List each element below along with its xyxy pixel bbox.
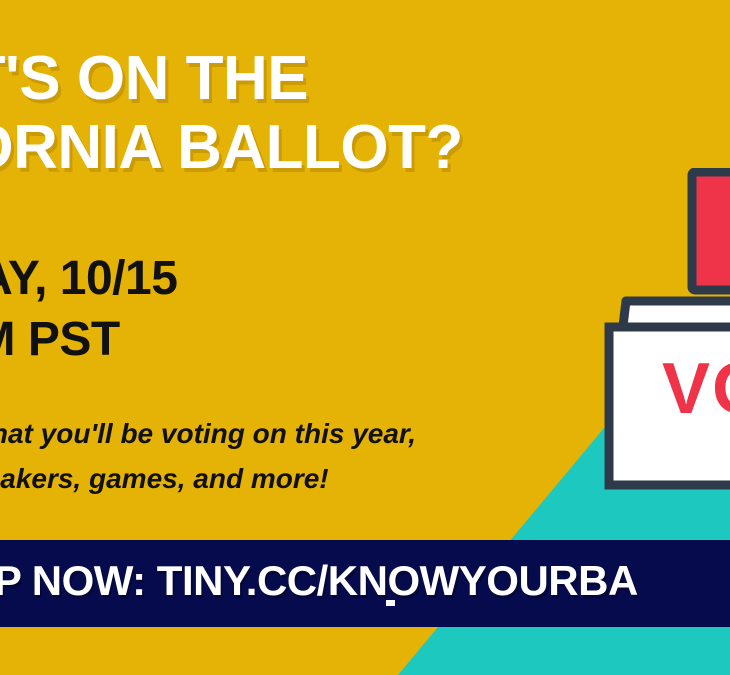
ballot-card-icon (692, 172, 730, 290)
event-description: t what you'll be voting on this year, sp… (0, 412, 416, 502)
description-line-1: t what you'll be voting on this year, (0, 412, 416, 457)
description-line-2: speakers, games, and more! (0, 457, 416, 502)
artifact-speck (386, 600, 395, 606)
headline-line-2: FORNIA BALLOT? (0, 113, 688, 182)
ballot-box-label: VO (662, 349, 730, 429)
cta-signup-link[interactable]: UP NOW: TINY.CC/KNOWYOURBA (0, 557, 638, 605)
event-flyer: AT'S ON THE FORNIA BALLOT? DAY, 10/15 PM… (0, 0, 730, 675)
event-datetime: DAY, 10/15 PM PST (0, 248, 177, 371)
event-time: PM PST (0, 309, 177, 370)
page-title: AT'S ON THE FORNIA BALLOT? (0, 44, 688, 183)
event-date: DAY, 10/15 (0, 248, 177, 309)
ballot-box-illustration: VO (596, 168, 730, 498)
headline-line-1: AT'S ON THE (0, 44, 308, 113)
